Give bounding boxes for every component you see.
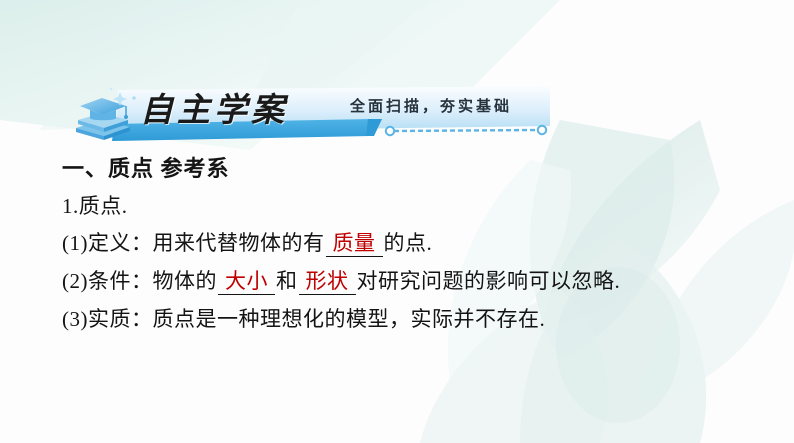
section-heading: 一、质点 参考系 [62,152,784,186]
slide-canvas: 自主学案 全面扫描，夯实基础 一、质点 参考系 1.质点. (1)定义：用来代替… [0,0,794,443]
condition-mid: 和 [276,269,298,293]
definition-label: (1)定义：用来代替物体的有 [62,231,325,255]
condition-tail: 对研究问题的影响可以忽略. [357,269,621,293]
essence-label: (3)实质：质点是一种理想化的模型，实际并不存在. [62,307,545,331]
condition-label: (2)条件：物体的 [62,269,217,293]
condition-blank-2: 形状 [299,269,356,295]
sub-heading: 1.质点. [62,188,784,224]
banner-dot-left [386,127,394,135]
content-body: 一、质点 参考系 1.质点. (1)定义：用来代替物体的有质量的点. (2)条件… [62,152,784,338]
definition-tail: 的点. [384,231,433,255]
section-banner: 自主学案 全面扫描，夯实基础 [72,84,550,144]
definition-blank-1: 质量 [326,231,383,257]
condition-blank-1: 大小 [218,269,275,295]
banner-dot-right [538,126,546,134]
essence-line: (3)实质：质点是一种理想化的模型，实际并不存在. [62,300,784,338]
banner-title: 自主学案 [140,90,288,132]
definition-line: (1)定义：用来代替物体的有质量的点. [62,224,784,262]
condition-line: (2)条件：物体的大小和形状对研究问题的影响可以忽略. [62,262,784,300]
banner-dashed-line [394,130,538,131]
banner-subtitle: 全面扫描，夯实基础 [350,96,512,118]
